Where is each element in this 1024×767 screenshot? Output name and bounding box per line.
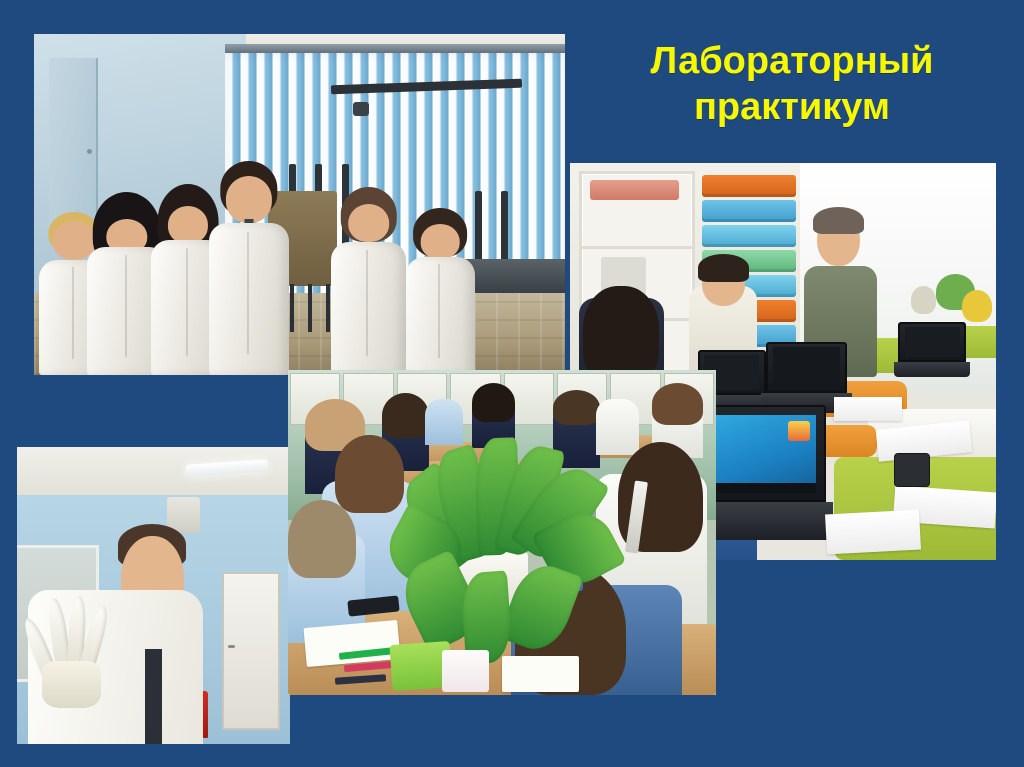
- laptop[interactable]: [898, 322, 966, 378]
- smartphone[interactable]: [894, 453, 930, 487]
- laptop-screen: [905, 327, 960, 357]
- papers: [825, 510, 921, 555]
- bandaged-palm: [42, 661, 101, 708]
- bandaged-hand: [33, 596, 115, 709]
- page-title: Лабораторный практикум: [592, 38, 992, 130]
- plant: [911, 286, 937, 314]
- plant: [962, 290, 992, 322]
- laptop-lid: [706, 405, 825, 502]
- laptop-screen: [716, 415, 815, 493]
- head: [168, 206, 208, 244]
- student-hair: [698, 254, 749, 282]
- lab-coat: [331, 242, 405, 375]
- shelf-item: [590, 180, 679, 200]
- projector-head: [353, 102, 369, 116]
- laptop-foreground[interactable]: [706, 405, 825, 540]
- storage-bin: [702, 225, 796, 247]
- equipment-stand: [475, 191, 482, 266]
- taskbar: [716, 483, 815, 493]
- head: [348, 204, 390, 243]
- laptop-base: [699, 502, 833, 540]
- person-student: [425, 399, 464, 445]
- hair: [382, 393, 429, 439]
- hair: [652, 383, 703, 425]
- head: [421, 224, 460, 258]
- scene-bandage: [17, 447, 290, 744]
- notebook: [442, 650, 489, 692]
- person-student: [331, 191, 405, 375]
- hair: [335, 435, 403, 513]
- laptop-lid: [766, 342, 847, 393]
- photo-student-with-bandaged-hand: Студент в халате показывает забинтованну…: [17, 447, 290, 744]
- hair: [288, 500, 356, 578]
- hair: [472, 383, 515, 422]
- papers: [834, 397, 902, 421]
- person-student-with-glasses: [209, 164, 289, 375]
- laptop-screen: [773, 347, 839, 387]
- door: [222, 572, 281, 730]
- lab-coat: [209, 223, 289, 375]
- presentation-slide: Лабораторный практикум: [0, 0, 1024, 767]
- lab-bench: [459, 259, 565, 293]
- screen-icon: [788, 421, 810, 441]
- teacher-hair: [813, 207, 864, 235]
- storage-bin: [702, 175, 796, 197]
- photo-biology-class-with-plant: Урок биологии: школьницы изучают комнатн…: [288, 370, 716, 695]
- lab-coat: [406, 257, 475, 375]
- necktie: [145, 649, 161, 744]
- person-student: [406, 211, 475, 375]
- person-student: [596, 399, 639, 454]
- notebook: [304, 619, 401, 666]
- laptop-lid: [898, 322, 966, 362]
- worksheet: [502, 656, 579, 692]
- laptop-base: [894, 362, 970, 378]
- photo-students-in-lab-coats: Группа студентов в белых халатах у окна …: [34, 34, 565, 375]
- blind-rail: [225, 44, 565, 53]
- hair: [553, 390, 600, 426]
- equipment-stand: [501, 191, 508, 266]
- scene-lab-coats: [34, 34, 565, 375]
- student-hair: [583, 286, 660, 381]
- head: [226, 176, 272, 223]
- storage-bin: [702, 200, 796, 222]
- scene-biology-class: [288, 370, 716, 695]
